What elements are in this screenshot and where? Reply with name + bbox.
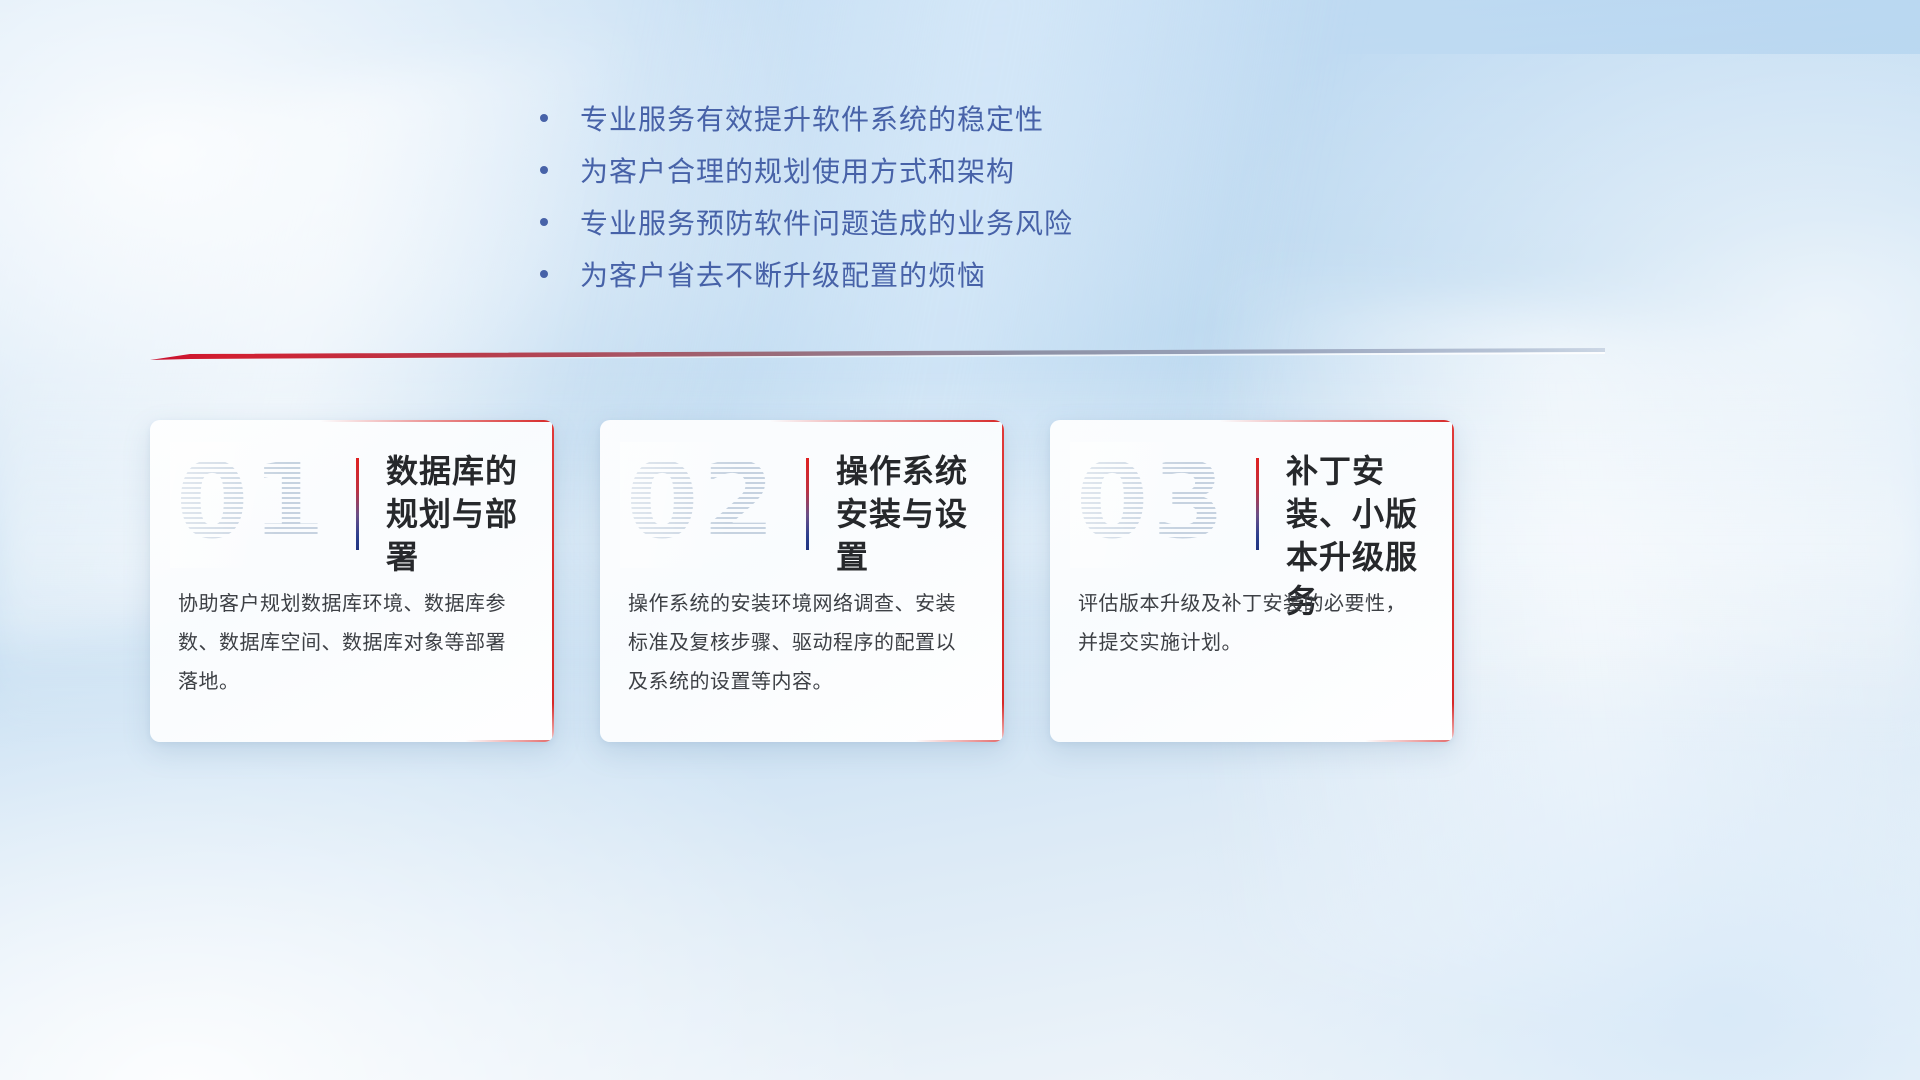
section-divider-rule xyxy=(150,348,1605,368)
card-title: 操作系统安装与设置 xyxy=(836,450,986,580)
service-card[interactable]: 01 数据库的规划与部署 协助客户规划数据库环境、数据库参数、数据库空间、数据库… xyxy=(150,420,554,742)
card-accent-bottom-border xyxy=(915,740,1004,742)
service-card[interactable]: 02 操作系统安装与设置 操作系统的安装环境网络调查、安装标准及复核步骤、驱动程… xyxy=(600,420,1004,742)
card-accent-top-border xyxy=(1220,420,1454,422)
card-accent-top-border xyxy=(770,420,1004,422)
card-divider-bar xyxy=(806,458,809,550)
list-item: 为客户省去不断升级配置的烦恼 xyxy=(540,248,1320,300)
card-header: 02 操作系统安装与设置 xyxy=(600,446,1004,564)
list-item: 为客户合理的规划使用方式和架构 xyxy=(540,144,1320,196)
bullet-dot-icon xyxy=(540,218,548,226)
bullet-label: 专业服务有效提升软件系统的稳定性 xyxy=(580,98,1044,138)
bullet-dot-icon xyxy=(540,270,548,278)
card-accent-top-border xyxy=(320,420,554,422)
card-accent-bottom-border xyxy=(465,740,554,742)
bullet-label: 专业服务预防软件问题造成的业务风险 xyxy=(580,202,1073,242)
card-header: 01 数据库的规划与部署 xyxy=(150,446,554,564)
list-item: 专业服务预防软件问题造成的业务风险 xyxy=(540,196,1320,248)
card-index-number: 03 xyxy=(1076,442,1229,560)
card-index-number: 01 xyxy=(176,442,329,560)
card-description: 协助客户规划数据库环境、数据库参数、数据库空间、数据库对象等部署落地。 xyxy=(178,585,526,702)
card-accent-bottom-border xyxy=(1365,740,1454,742)
benefits-bullet-list: 专业服务有效提升软件系统的稳定性 为客户合理的规划使用方式和架构 专业服务预防软… xyxy=(540,92,1320,300)
card-description: 评估版本升级及补丁安装的必要性，并提交实施计划。 xyxy=(1078,585,1426,663)
bullet-dot-icon xyxy=(540,166,548,174)
card-divider-bar xyxy=(356,458,359,550)
service-card[interactable]: 03 补丁安装、小版本升级服务 评估版本升级及补丁安装的必要性，并提交实施计划。 xyxy=(1050,420,1454,742)
list-item: 专业服务有效提升软件系统的稳定性 xyxy=(540,92,1320,144)
bullet-label: 为客户合理的规划使用方式和架构 xyxy=(580,150,1015,190)
service-card-list: 01 数据库的规划与部署 协助客户规划数据库环境、数据库参数、数据库空间、数据库… xyxy=(150,420,1454,742)
bullet-dot-icon xyxy=(540,114,548,122)
card-index-number: 02 xyxy=(626,442,779,560)
card-header: 03 补丁安装、小版本升级服务 xyxy=(1050,446,1454,564)
section-divider xyxy=(150,348,1605,368)
card-title: 数据库的规划与部署 xyxy=(386,450,536,580)
bullet-label: 为客户省去不断升级配置的烦恼 xyxy=(580,254,986,294)
card-description: 操作系统的安装环境网络调查、安装标准及复核步骤、驱动程序的配置以及系统的设置等内… xyxy=(628,585,976,702)
card-divider-bar xyxy=(1256,458,1259,550)
